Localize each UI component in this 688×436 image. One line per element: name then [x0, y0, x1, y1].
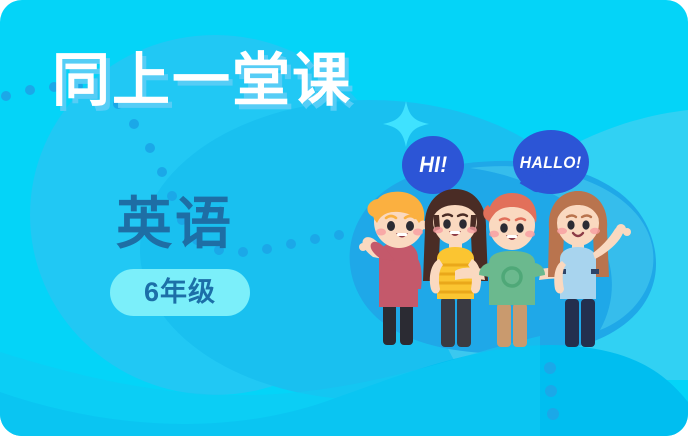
speech-bubble-hi-text: HI!	[419, 154, 447, 176]
child-waving-girl	[548, 191, 631, 347]
child-blonde-boy	[359, 192, 428, 345]
course-cover-card: 同上一堂课 英语 6年级 HI! HALLO!	[0, 0, 688, 436]
speech-bubble-hallo-text: HALLO!	[520, 154, 582, 171]
children-illustration	[355, 185, 645, 350]
child-brown-haired-girl	[423, 189, 488, 347]
